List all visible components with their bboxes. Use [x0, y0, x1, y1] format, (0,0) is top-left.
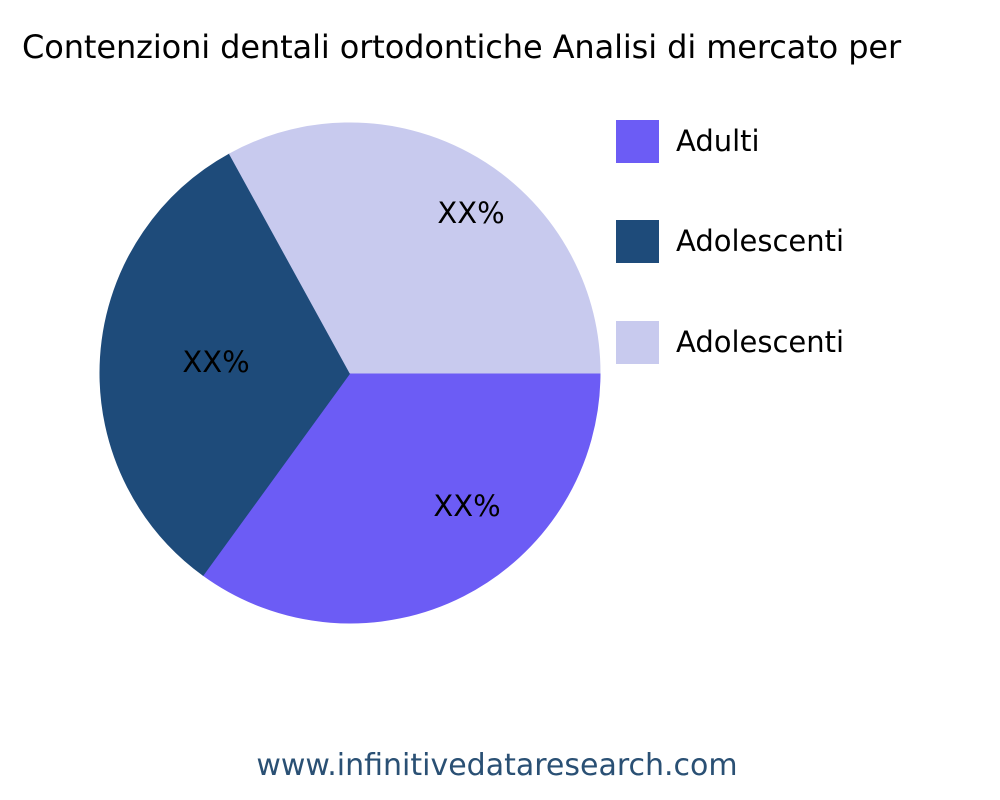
- legend-swatch-adulti: [616, 120, 659, 163]
- legend-label-adolescenti-dark: Adolescenti: [676, 220, 844, 263]
- pie-plot-area: XX% XX% XX%: [0, 0, 640, 800]
- legend-item-adolescenti-light[interactable]: Adolescenti: [615, 321, 985, 365]
- legend-item-adulti[interactable]: Adulti: [615, 120, 985, 164]
- legend-swatch-adolescenti-dark: [616, 220, 659, 263]
- footer-source-url[interactable]: www.infinitivedataresearch.com: [0, 748, 1000, 783]
- legend-label-adolescenti-light: Adolescenti: [676, 321, 844, 364]
- legend-label-adulti: Adulti: [676, 120, 760, 163]
- pie-slices-group: [100, 123, 600, 623]
- legend-swatch-adolescenti-light: [616, 321, 659, 364]
- legend-item-adolescenti-dark[interactable]: Adolescenti: [615, 220, 985, 264]
- pie-chart-figure: Contenzioni dentali ortodontiche Analisi…: [0, 0, 1000, 800]
- slice-percent-label-adulti: XX%: [433, 489, 500, 523]
- pie-svg: [0, 0, 640, 800]
- slice-percent-label-adolescenti-light: XX%: [437, 196, 504, 230]
- slice-percent-label-adolescenti-dark: XX%: [182, 345, 249, 379]
